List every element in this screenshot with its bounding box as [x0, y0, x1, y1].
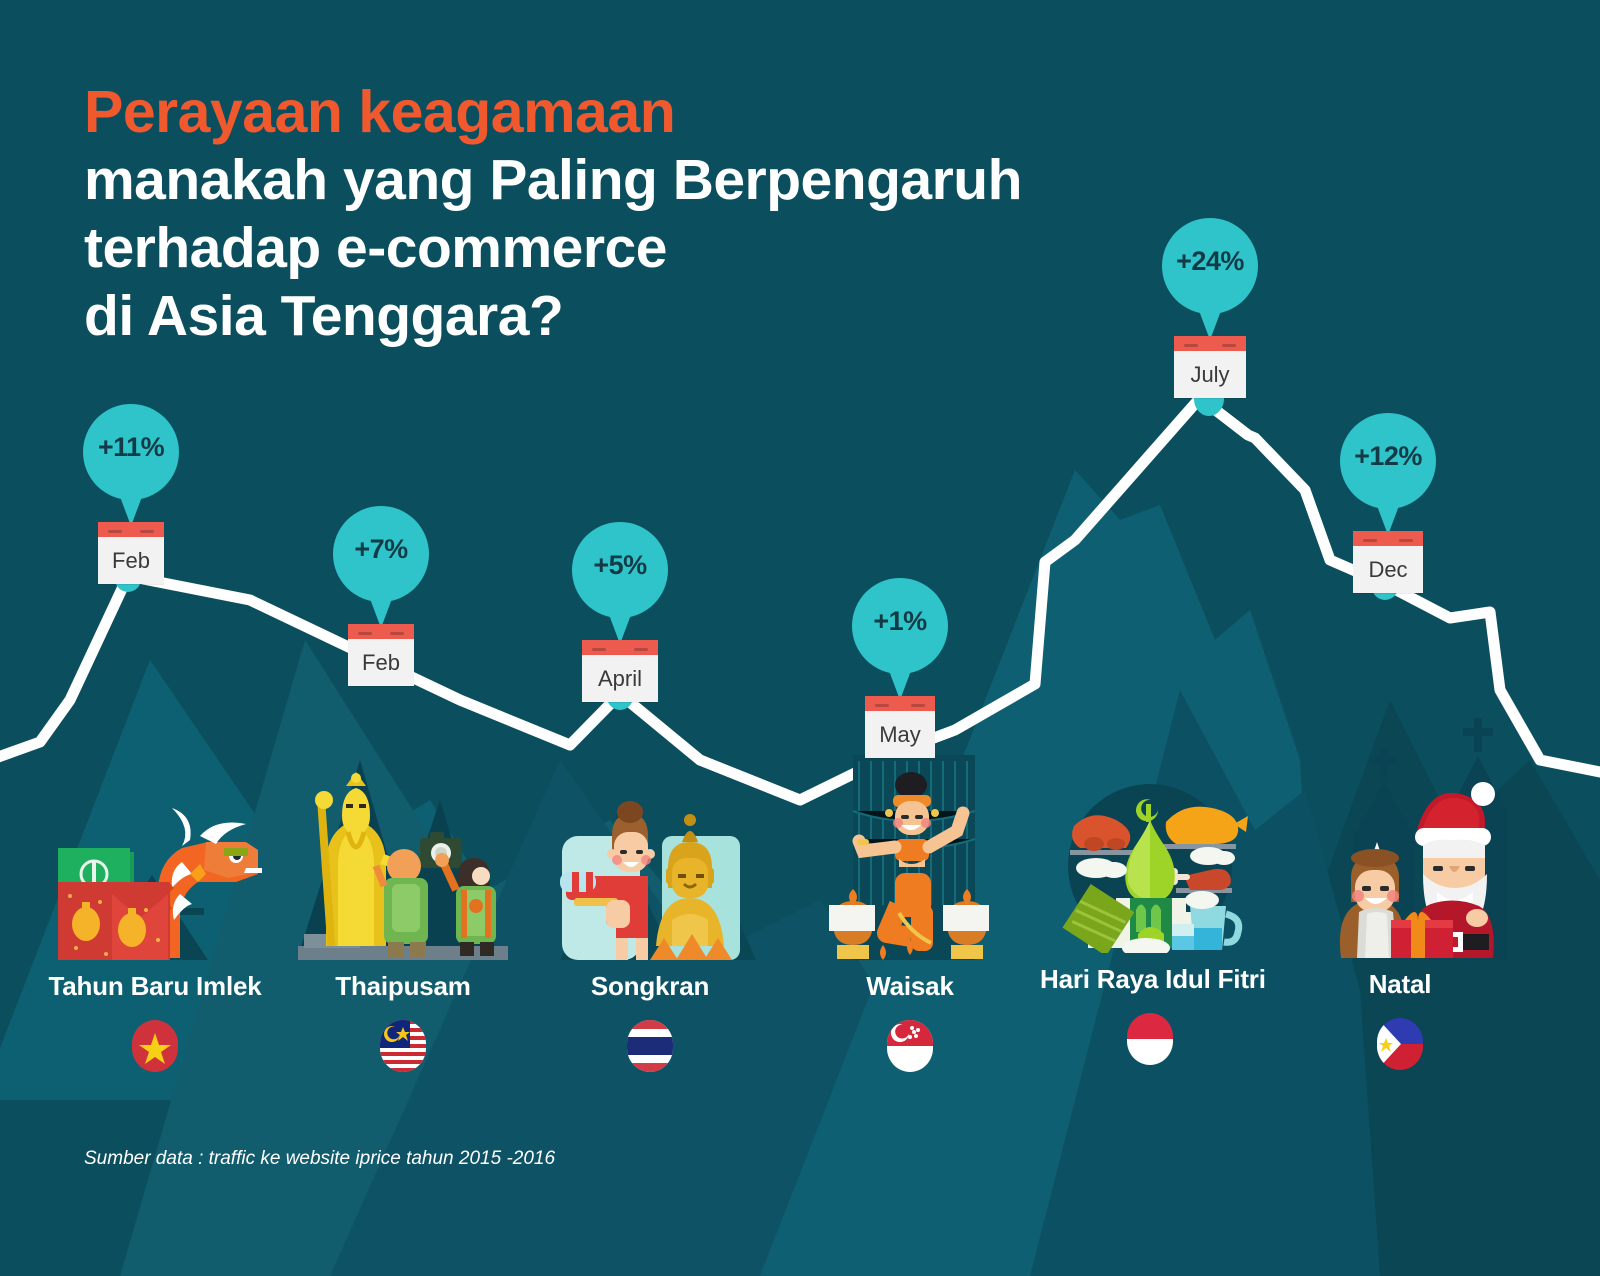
calendar-month: April [582, 655, 658, 702]
title-line-1: Perayaan keagamaan [84, 78, 1284, 146]
festival-item-natal[interactable]: Natal [1300, 762, 1500, 1070]
calendar-card: May [865, 696, 935, 758]
source-note: Sumber data : traffic ke website iprice … [84, 1148, 555, 1170]
calendar-card: July [1174, 336, 1246, 398]
marker-percent: +5% [572, 522, 668, 608]
malaysia-flag [380, 1020, 426, 1072]
calendar-card: Dec [1353, 531, 1423, 593]
pin-shape: +5% [572, 522, 668, 644]
calendar-month: Dec [1353, 546, 1423, 593]
pin-shape: +1% [852, 578, 948, 700]
indonesia-flag [1127, 1013, 1173, 1065]
pin-shape: +24% [1162, 218, 1258, 340]
festival-name: Natal [1300, 969, 1500, 1000]
title-line-4: di Asia Tenggara? [84, 282, 1284, 350]
singapore-flag [887, 1020, 933, 1072]
festival-item-thaipusam[interactable]: Thaipusam [288, 770, 518, 1072]
flag-graphic [627, 1020, 673, 1072]
calendar-card: Feb [348, 624, 414, 686]
calendar-card: April [582, 640, 658, 702]
calendar-top-bar [98, 522, 164, 537]
marker-feb-11[interactable]: +11% Feb [76, 404, 186, 584]
festival-item-songkran[interactable]: Songkran [540, 780, 760, 1072]
festival-item-hari-raya-idul-fitri[interactable]: Hari Raya Idul Fitri [1040, 778, 1260, 1065]
chinese-new-year-illustration [40, 790, 270, 960]
flag-graphic [887, 1020, 933, 1072]
festival-name: Songkran [540, 971, 760, 1002]
pin-shape: +7% [333, 506, 429, 628]
flag-graphic [380, 1020, 426, 1072]
infographic-canvas: Perayaan keagamaan manakah yang Paling B… [0, 0, 1600, 1276]
idul-fitri-illustration [1050, 778, 1250, 953]
title-line-2: manakah yang Paling Berpengaruh [84, 146, 1284, 214]
festival-name: Tahun Baru Imlek [20, 971, 290, 1002]
waisak-illustration [815, 755, 1005, 960]
calendar-month: Feb [348, 639, 414, 686]
thaipusam-illustration [298, 770, 508, 960]
marker-percent: +24% [1162, 218, 1258, 304]
flag-graphic [1127, 1013, 1173, 1065]
vietnam-flag [132, 1020, 178, 1072]
songkran-illustration [550, 780, 750, 960]
flag-graphic [1377, 1018, 1423, 1070]
festival-name: Hari Raya Idul Fitri [1040, 964, 1260, 995]
philippines-flag [1377, 1018, 1423, 1070]
festival-name: Thaipusam [288, 971, 518, 1002]
calendar-top-bar [1174, 336, 1246, 351]
calendar-top-bar [865, 696, 935, 711]
festival-item-tahun-baru-imlek[interactable]: Tahun Baru Imlek [20, 790, 290, 1072]
marker-april-5[interactable]: +5% April [565, 522, 675, 702]
pin-shape: +11% [83, 404, 179, 526]
marker-feb-7[interactable]: +7% Feb [326, 506, 436, 686]
calendar-month: Feb [98, 537, 164, 584]
trend-line-vertices [114, 382, 1399, 766]
festival-item-waisak[interactable]: Waisak [810, 755, 1010, 1072]
calendar-top-bar [582, 640, 658, 655]
title-line-3: terhadap e-commerce [84, 214, 1284, 282]
marker-percent: +11% [83, 404, 179, 490]
christmas-illustration [1305, 762, 1495, 958]
calendar-month: May [865, 711, 935, 758]
calendar-top-bar [1353, 531, 1423, 546]
calendar-top-bar [348, 624, 414, 639]
pin-shape: +12% [1340, 413, 1436, 535]
thailand-flag [627, 1020, 673, 1072]
calendar-card: Feb [98, 522, 164, 584]
flag-star-icon [132, 1020, 178, 1072]
marker-may-1[interactable]: +1% May [845, 578, 955, 758]
marker-percent: +12% [1340, 413, 1436, 499]
marker-dec-12[interactable]: +12% Dec [1333, 413, 1443, 593]
festival-name: Waisak [810, 971, 1010, 1002]
page-title: Perayaan keagamaan manakah yang Paling B… [84, 78, 1284, 350]
marker-percent: +7% [333, 506, 429, 592]
marker-percent: +1% [852, 578, 948, 664]
marker-july-24[interactable]: +24% July [1155, 218, 1265, 398]
calendar-month: July [1174, 351, 1246, 398]
